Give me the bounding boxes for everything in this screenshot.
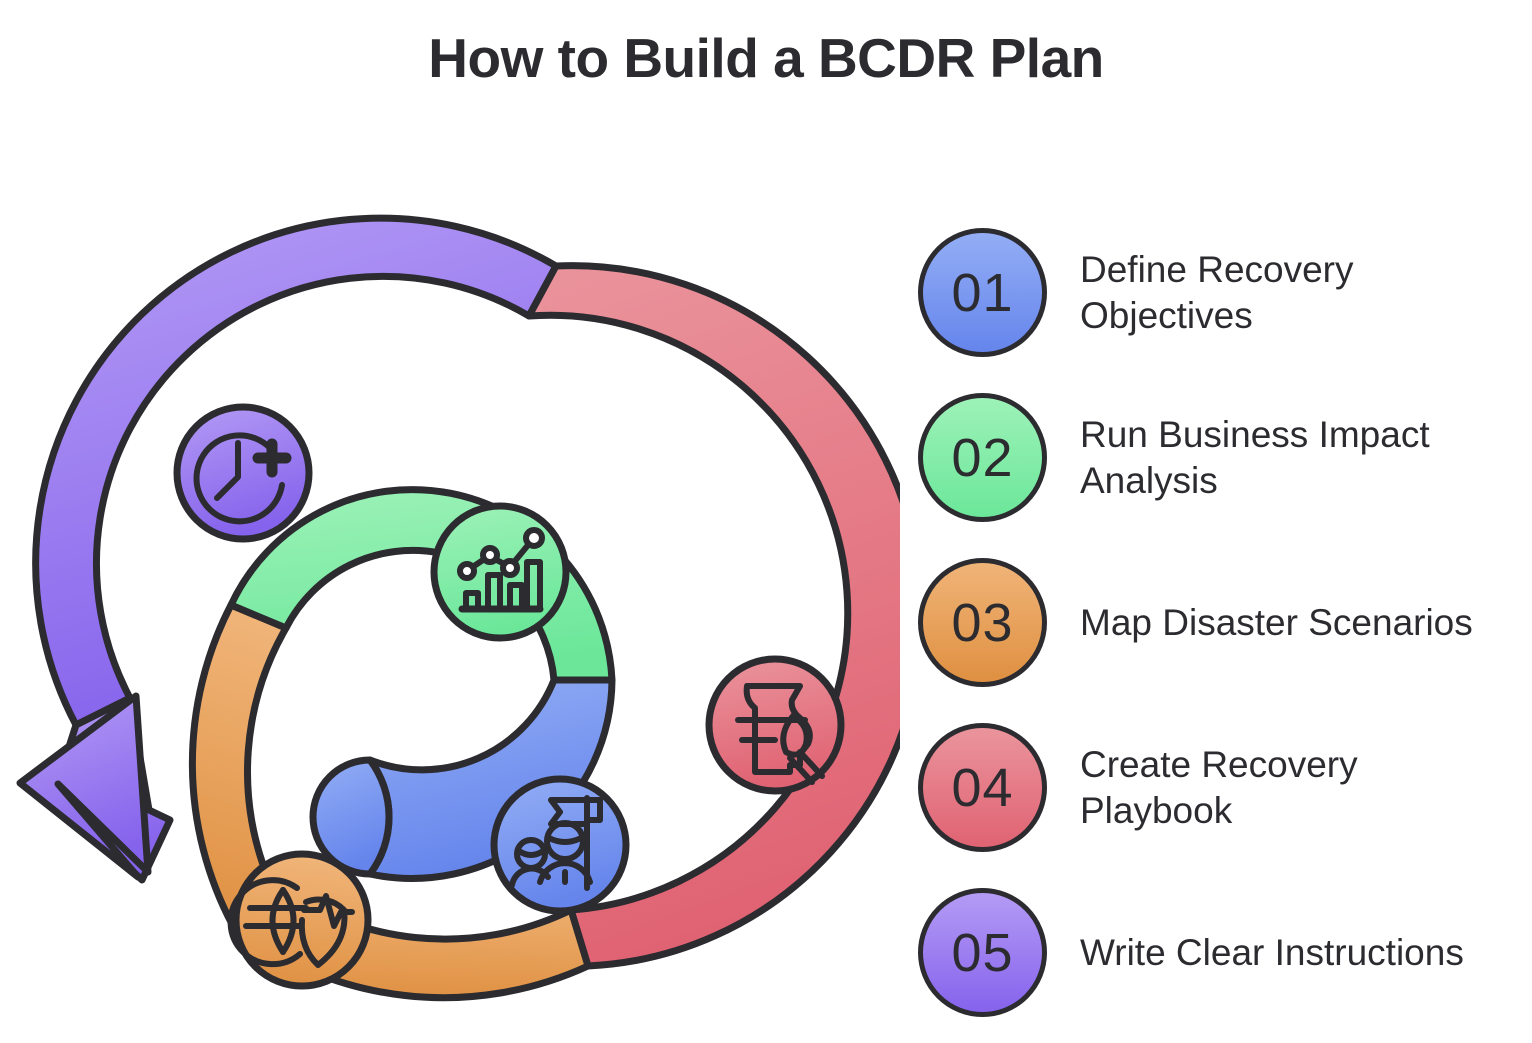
- page-title: How to Build a BCDR Plan: [0, 26, 1532, 90]
- legend-label-04: Create Recovery Playbook: [1080, 742, 1510, 832]
- legend-label-05: Write Clear Instructions: [1080, 930, 1464, 975]
- legend-number-badge-02: 02: [918, 393, 1047, 522]
- legend-number-badge-03: 03: [918, 558, 1047, 687]
- legend-number-badge-04: 04: [918, 723, 1047, 852]
- spiral-diagram-svg: [0, 120, 900, 1038]
- badge-bar-chart: [434, 506, 566, 638]
- badge-vase-paintbrush: [709, 659, 841, 791]
- badge-clock-plus: [177, 407, 309, 539]
- legend-list: 01 Define Recovery Objectives 02 Run Bus…: [918, 210, 1518, 1035]
- badge-team-flag: [494, 779, 626, 911]
- legend-item-03[interactable]: 03 Map Disaster Scenarios: [918, 540, 1518, 705]
- legend-label-01: Define Recovery Objectives: [1080, 247, 1510, 337]
- legend-item-01[interactable]: 01 Define Recovery Objectives: [918, 210, 1518, 375]
- legend-number-badge-01: 01: [918, 228, 1047, 357]
- legend-number-badge-05: 05: [918, 888, 1047, 1017]
- legend-item-02[interactable]: 02 Run Business Impact Analysis: [918, 375, 1518, 540]
- legend-item-05[interactable]: 05 Write Clear Instructions: [918, 870, 1518, 1035]
- legend-label-03: Map Disaster Scenarios: [1080, 600, 1473, 645]
- legend-item-04[interactable]: 04 Create Recovery Playbook: [918, 705, 1518, 870]
- legend-label-02: Run Business Impact Analysis: [1080, 412, 1510, 502]
- badge-globe-pulse: [231, 854, 368, 986]
- spiral-diagram: [0, 120, 900, 1038]
